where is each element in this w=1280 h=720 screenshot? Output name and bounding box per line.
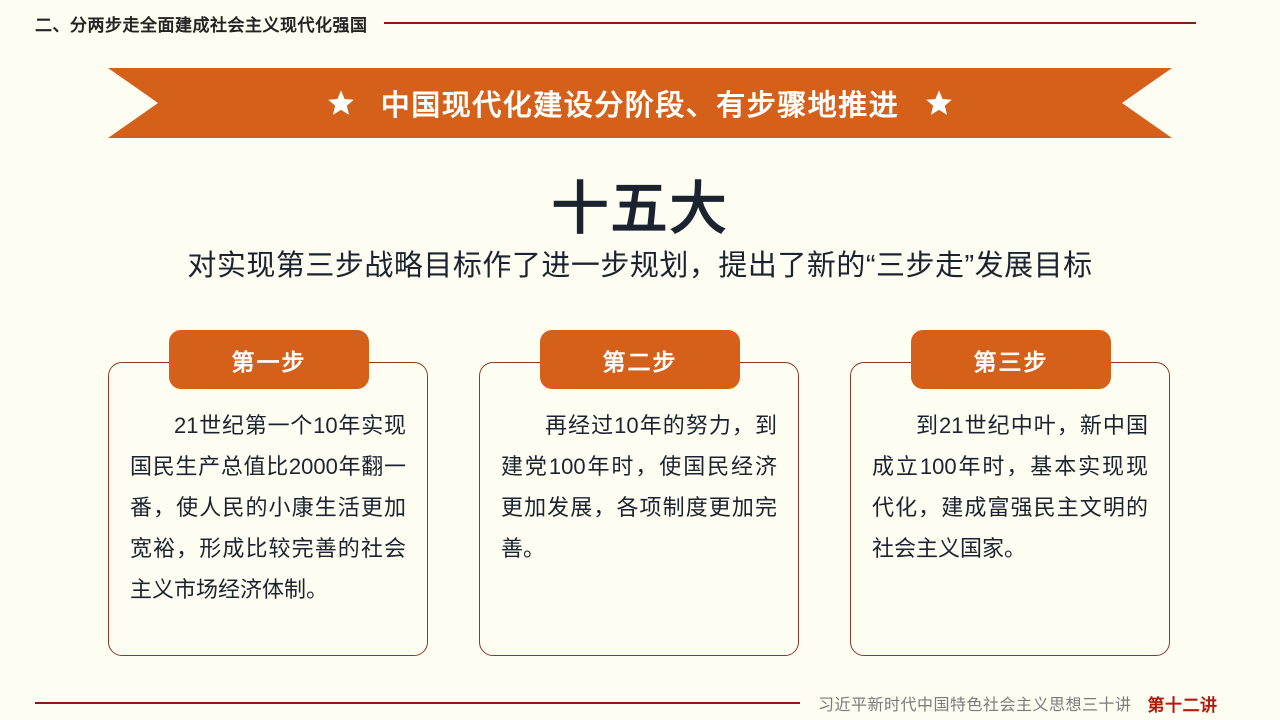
step-card-body: 再经过10年的努力，到建党100年时，使国民经济更加发展，各项制度更加完善。 [501,405,777,569]
step-card-badge: 第三步 [911,330,1111,389]
ribbon-title: 中国现代化建设分阶段、有步骤地推进 [381,82,900,124]
slide-header: 二、分两步走全面建成社会主义现代化强国 [0,0,1280,46]
step-card: 第二步 再经过10年的努力，到建党100年时，使国民经济更加发展，各项制度更加完… [479,330,801,658]
step-card: 第一步 21世纪第一个10年实现国民生产总值比2000年翻一番，使人民的小康生活… [108,330,430,658]
step-card-body: 21世纪第一个10年实现国民生产总值比2000年翻一番，使人民的小康生活更加宽裕… [130,405,406,610]
slide-footer: 习近平新时代中国特色社会主义思想三十讲 第十二讲 [0,686,1280,720]
ribbon-content: 中国现代化建设分阶段、有步骤地推进 [327,82,954,124]
section-ribbon-banner: 中国现代化建设分阶段、有步骤地推进 [108,68,1172,138]
step-card-body: 到21世纪中叶，新中国成立100年时，基本实现现代化，建成富强民主文明的社会主义… [872,405,1148,569]
star-icon [925,89,953,117]
step-card: 第三步 到21世纪中叶，新中国成立100年时，基本实现现代化，建成富强民主文明的… [850,330,1172,658]
step-card-group: 第一步 21世纪第一个10年实现国民生产总值比2000年翻一番，使人民的小康生活… [108,330,1172,660]
header-divider-line [384,22,1196,24]
header-title: 二、分两步走全面建成社会主义现代化强国 [35,11,368,36]
step-card-badge: 第二步 [540,330,740,389]
footer-lecture-number: 第十二讲 [1148,691,1218,716]
star-icon [327,89,355,117]
step-card-badge: 第一步 [169,330,369,389]
footer-divider-line [35,702,800,704]
page-title: 十五大 [0,163,1280,245]
page-subtitle: 对实现第三步战略目标作了进一步规划，提出了新的“三步走”发展目标 [0,242,1280,284]
footer-series-text: 习近平新时代中国特色社会主义思想三十讲 [818,691,1132,715]
